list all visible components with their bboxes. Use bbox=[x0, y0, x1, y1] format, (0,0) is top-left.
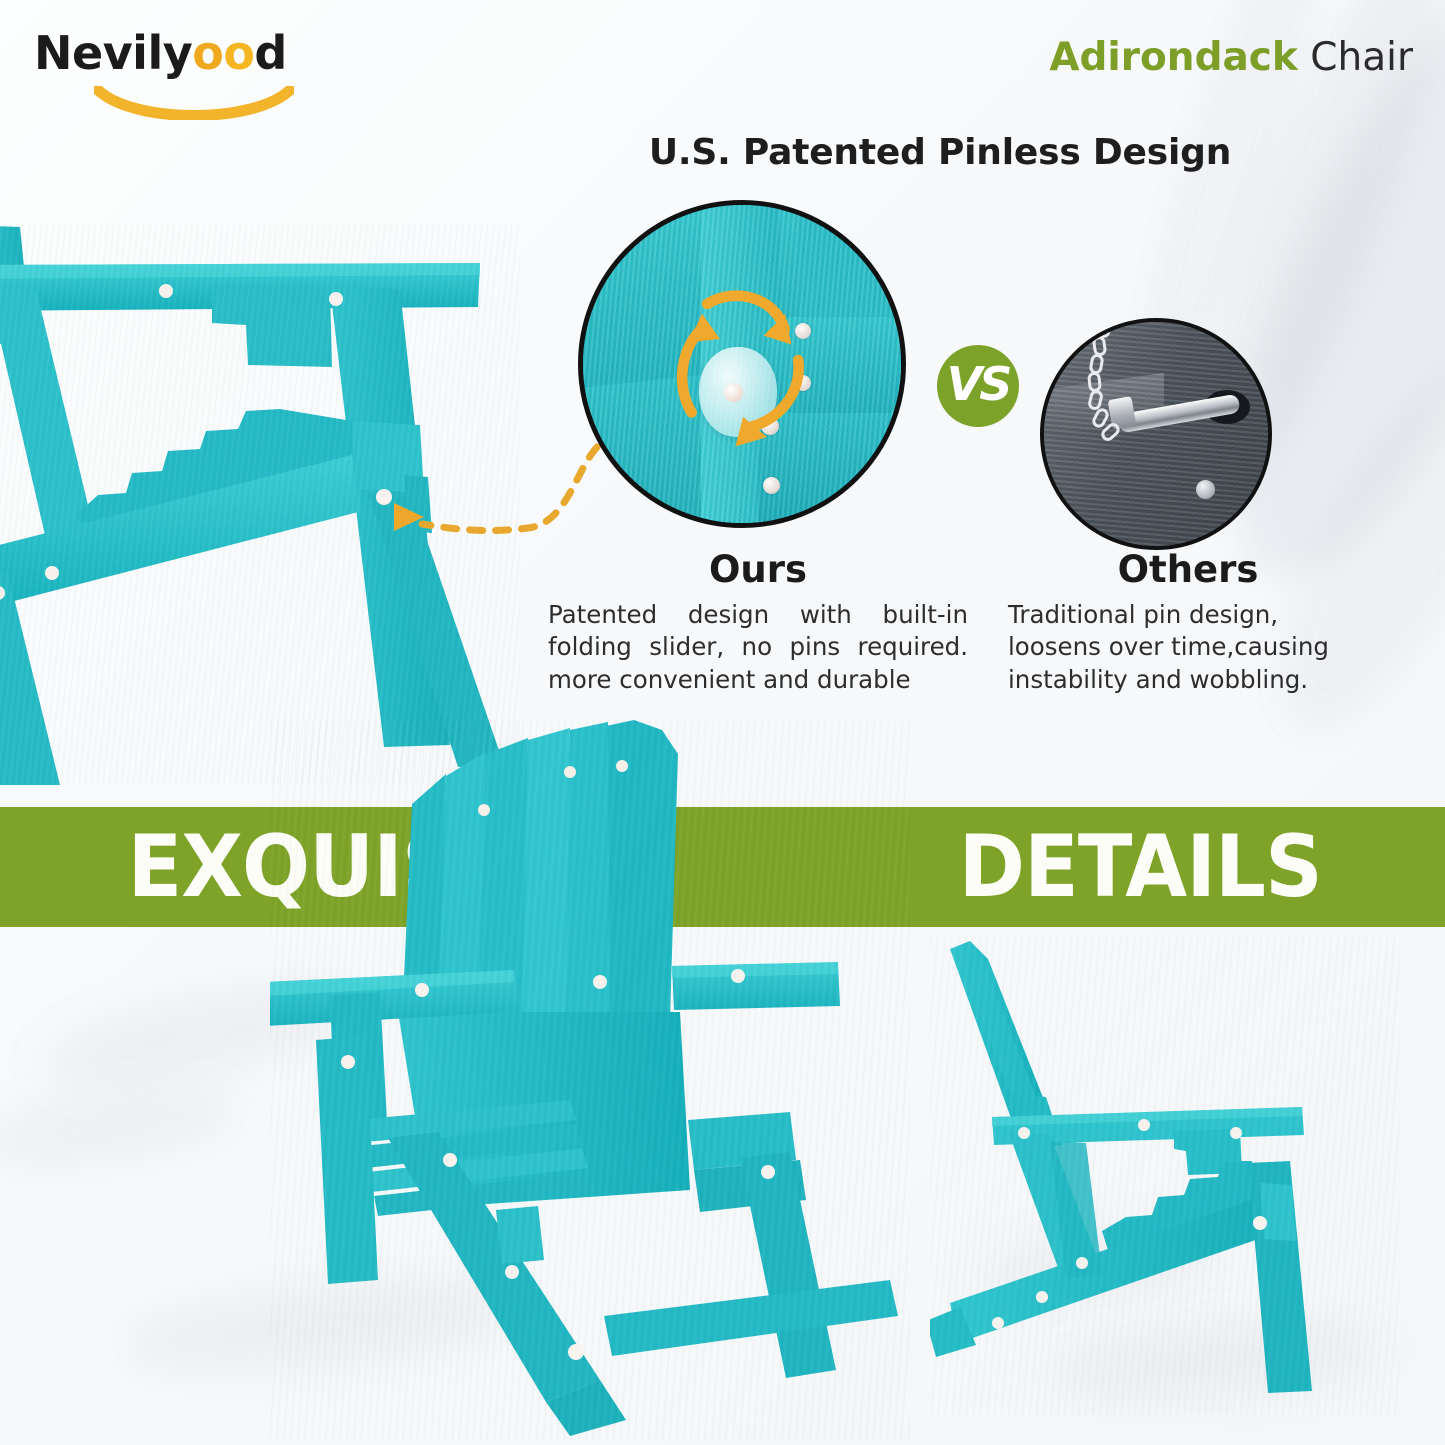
others-body: Traditional pin design, loosens over tim… bbox=[1008, 599, 1368, 696]
ours-heading: Ours bbox=[548, 548, 968, 591]
ours-body: Patented design with built-in folding sl… bbox=[548, 599, 968, 696]
adirondack-chair-side-view-illustration bbox=[930, 935, 1400, 1415]
brand-logo-text: Nevilyood bbox=[34, 30, 334, 76]
screw bbox=[1196, 480, 1215, 499]
vs-label: VS bbox=[947, 357, 1010, 411]
wood-grain-texture bbox=[1044, 322, 1268, 546]
others-heading: Others bbox=[1008, 548, 1368, 591]
logo-o-filled-glyph: o bbox=[223, 26, 254, 80]
ours-detail-photo bbox=[578, 200, 906, 528]
rotation-arrows-icon bbox=[583, 205, 901, 523]
adirondack-chair-rear-view-illustration bbox=[270, 720, 910, 1440]
ours-caption: Ours Patented design with built-in foldi… bbox=[548, 548, 968, 696]
brand-logo: Nevilyood bbox=[34, 30, 334, 122]
logo-o-ring-glyph: o bbox=[192, 26, 223, 80]
others-detail-photo bbox=[1040, 318, 1272, 550]
logo-text-part2: d bbox=[254, 26, 286, 80]
others-caption: Others Traditional pin design, loosens o… bbox=[1008, 548, 1368, 696]
product-title: Adirondack Chair bbox=[1049, 38, 1413, 77]
patent-headline: U.S. Patented Pinless Design bbox=[640, 132, 1240, 173]
vs-badge: VS bbox=[937, 345, 1019, 427]
logo-text-part1: Nevily bbox=[34, 26, 192, 80]
product-title-normal: Chair bbox=[1310, 35, 1413, 80]
product-title-bold: Adirondack bbox=[1049, 35, 1298, 80]
logo-smile-icon bbox=[94, 86, 294, 120]
poster-canvas: Nevilyood Adirondack Chair U.S. Patented… bbox=[0, 0, 1445, 1445]
